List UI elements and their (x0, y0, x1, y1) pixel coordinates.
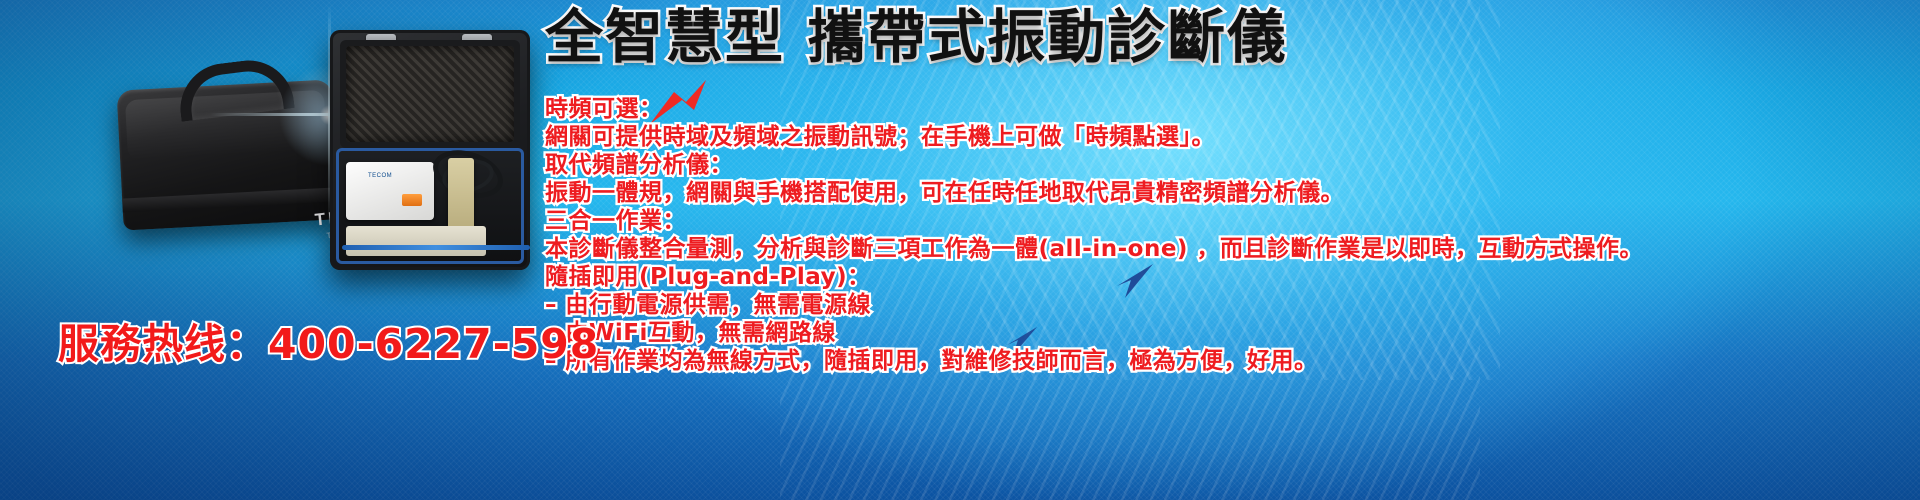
gateway-brand-label: TECOM (368, 173, 392, 179)
copy-line: – 所有作業均為無線方式，隨插即用，對維修技師而言，極為方便，好用。 (545, 347, 1920, 375)
copy-line: 隨插即用(Plug-and-Play)： (545, 263, 1920, 291)
feature-copy-block: 時頻可選： 網關可提供時域及頻域之振動訊號；在手機上可做「時頻點選」。 取代頻譜… (545, 95, 1920, 375)
accessory-pouch (346, 226, 486, 256)
copy-line: 本診斷儀整合量測，分析與診斷三項工作為一體(all-in-one) ，而且診斷作… (545, 235, 1920, 263)
copy-line: 網關可提供時域及頻域之振動訊號；在手機上可做「時頻點選」。 (545, 123, 1920, 151)
copy-line: 取代頻譜分析儀： (545, 151, 1920, 179)
case-lid (340, 40, 520, 148)
vibration-sensor-probe (448, 158, 474, 230)
service-hotline: 服務热线：400-6227-598 (58, 310, 599, 370)
copy-line: 時頻可選： (545, 95, 1920, 123)
product-photo: TECOM TECO Group TECOM (0, 0, 545, 300)
product-banner: TECOM TECO Group TECOM (0, 0, 1920, 500)
case-blue-stripe (342, 245, 530, 250)
orange-connector (402, 194, 422, 206)
banner-title: 全智慧型 攜帶式振動診斷儀 (545, 8, 1287, 66)
copy-line: 振動一體規，網關與手機搭配使用，可在任時任地取代昂貴精密頻譜分析儀。 (545, 179, 1920, 207)
foam-padding (346, 46, 514, 142)
case-base: TECOM (336, 148, 524, 264)
gateway-device: TECOM (346, 162, 434, 220)
copy-line: – 由WiFi互動，無需網路線 (545, 319, 1920, 347)
copy-line: 三合一作業： (545, 207, 1920, 235)
copy-line: – 由行動電源供需，無需電源線 (545, 291, 1920, 319)
open-carrying-case: TECOM (330, 30, 530, 270)
